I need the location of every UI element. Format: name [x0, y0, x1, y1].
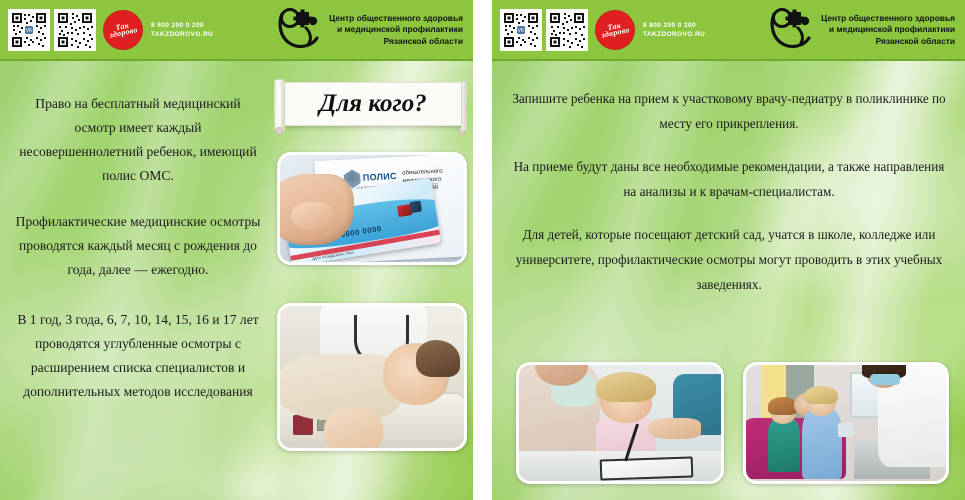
cup-icon: [838, 423, 854, 437]
baby-on-scale-photo: [277, 303, 467, 451]
hotline-block: 8 800 200 0 200 TAKZDOROVO.RU: [643, 21, 705, 39]
org-logo-icon: [768, 8, 814, 52]
policy-doc-title: ПОЛИС: [362, 171, 397, 183]
paragraph-2: На приеме будут даны все необходимые рек…: [512, 154, 946, 204]
banner-title: Для кого?: [319, 90, 426, 118]
hotline-block: 8 800 200 0 200 TAKZDOROVO.RU: [151, 21, 213, 39]
org-name: Центр общественного здоровья и медицинск…: [821, 13, 955, 48]
takzdorovo-logo[interactable]: Так здорово: [103, 10, 143, 50]
hotline-phone: 8 800 200 0 200: [151, 21, 213, 30]
org-line-2: и медицинской профилактики: [329, 24, 463, 36]
child-teal-body: [768, 418, 800, 471]
body-copy-left: Право на бесплатный медицинский осмотр и…: [14, 92, 262, 418]
org-line-1: Центр общественного здоровья: [821, 13, 955, 25]
poster-pair: VK: [0, 0, 965, 500]
org-identity-left: Центр общественного здоровья и медицинск…: [276, 8, 463, 52]
org-logo-icon: [276, 8, 322, 52]
svg-text:VK: VK: [26, 28, 33, 34]
paragraph-1: Право на бесплатный медицинский осмотр и…: [14, 92, 262, 188]
qr-code-vk-icon[interactable]: VK: [500, 9, 542, 51]
org-identity-right: Центр общественного здоровья и медицинск…: [768, 8, 955, 52]
scroll-roll-left-icon: [274, 79, 285, 133]
svg-text:VK: VK: [518, 28, 525, 34]
org-line-2: и медицинской профилактики: [821, 24, 955, 36]
qr-code-site-icon[interactable]: [54, 9, 96, 51]
card-chip-icon: [409, 200, 422, 213]
child-blue-dress-body: [802, 407, 842, 479]
hotline-site: TAKZDOROVO.RU: [643, 30, 705, 39]
takzdorovo-label: Так здорово: [594, 20, 636, 40]
panel-divider: [473, 0, 492, 500]
paragraph-2: Профилактические медицинские осмотры про…: [14, 210, 262, 282]
org-line-3: Рязанской области: [821, 36, 955, 48]
poster-panel-right: VK: [492, 0, 965, 500]
hotline-phone: 8 800 200 0 200: [643, 21, 705, 30]
body-copy-right: Запишите ребенка на прием к участковому …: [512, 86, 946, 315]
hotline-site: TAKZDOROVO.RU: [151, 30, 213, 39]
qr-code-vk-icon[interactable]: VK: [8, 9, 50, 51]
org-name: Центр общественного здоровья и медицинск…: [329, 13, 463, 48]
banner-dlya-kogo: Для кого?: [283, 82, 463, 126]
paragraph-3: Для детей, которые посещают детский сад,…: [512, 222, 946, 297]
poster-header-left: VK: [0, 0, 473, 61]
girl-with-doctor-photo: [516, 362, 724, 484]
paragraph-1: Запишите ребенка на прием к участковому …: [512, 86, 946, 136]
medical-mask-icon: [870, 374, 900, 384]
scroll-knob-icon: [275, 127, 283, 135]
baby-arm: [324, 408, 383, 448]
poster-panel-left: VK: [0, 0, 473, 500]
header-logos-left: VK: [8, 9, 213, 51]
girl-hair: [596, 372, 657, 402]
poster-header-right: VK: [492, 0, 965, 61]
oms-policy-photo: ПОЛИС обязательного медицинского страхов…: [277, 152, 467, 265]
scroll-roll-right-icon: [461, 81, 467, 131]
paragraph-3: В 1 год, 3 года, 6, 7, 10, 14, 15, 16 и …: [14, 308, 262, 404]
clipboard: [599, 456, 693, 480]
baby-hair: [416, 340, 460, 377]
takzdorovo-label: Так здорово: [102, 20, 144, 40]
doctor-arm: [648, 418, 701, 439]
thumb-graphic: [291, 202, 335, 230]
org-line-1: Центр общественного здоровья: [329, 13, 463, 25]
child-blue-dress-hair: [804, 386, 838, 405]
qr-code-site-icon[interactable]: [546, 9, 588, 51]
takzdorovo-logo[interactable]: Так здорово: [595, 10, 635, 50]
header-logos-right: VK: [500, 9, 705, 51]
children-at-clinic-photo: [743, 362, 949, 484]
org-line-3: Рязанской области: [329, 36, 463, 48]
